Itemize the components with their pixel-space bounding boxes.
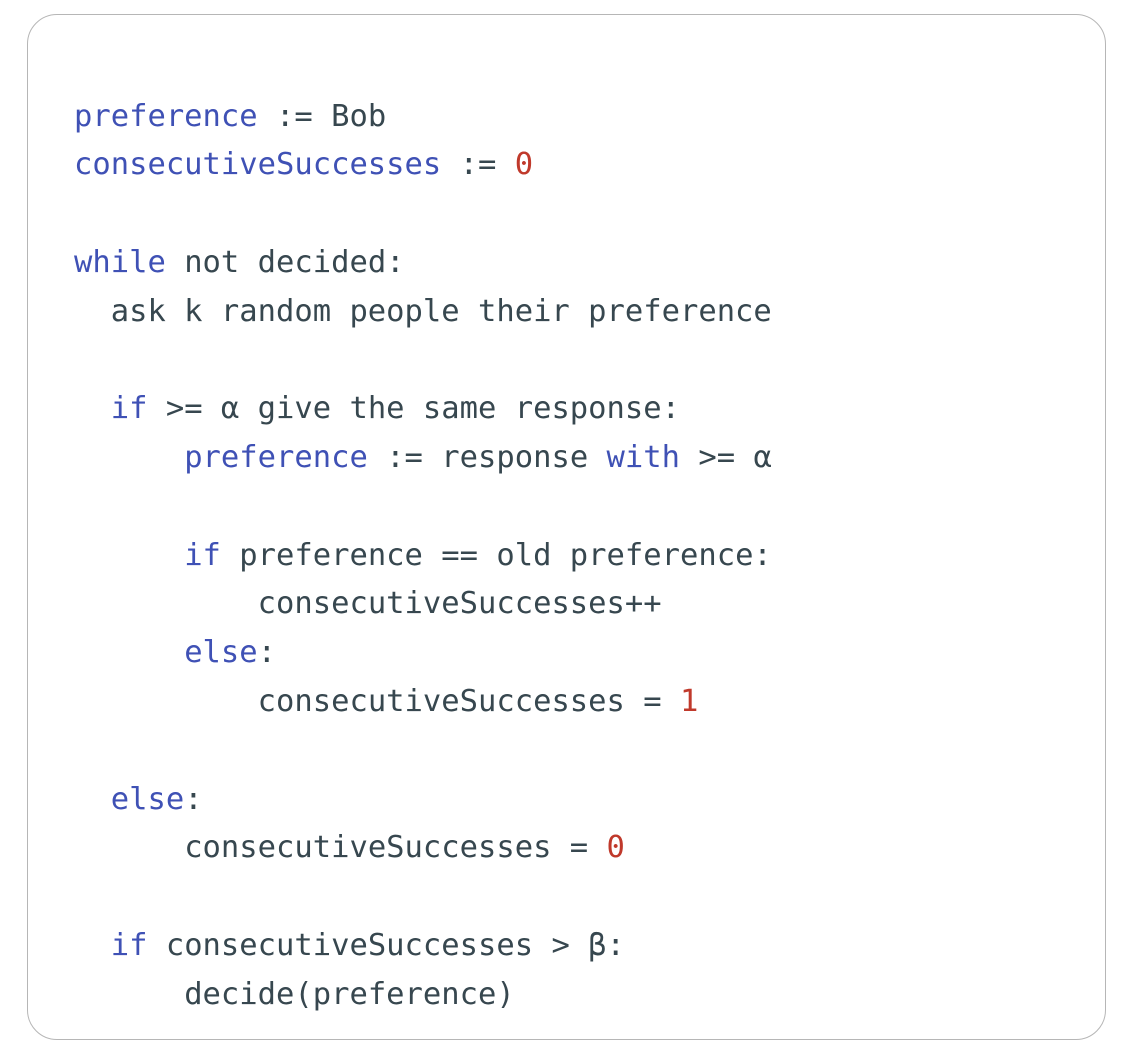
code-line: if consecutiveSuccesses > β:	[74, 922, 772, 971]
code-token-txt: consecutiveSuccesses =	[184, 830, 606, 865]
code-token-txt: >= α	[680, 440, 772, 475]
code-line-blank	[74, 873, 772, 922]
code-line-blank	[74, 190, 772, 239]
code-token-var: consecutiveSuccesses	[74, 147, 441, 182]
code-line: consecutiveSuccesses = 0	[74, 824, 772, 873]
code-token-txt: :=	[441, 147, 514, 182]
code-token-txt: not decided:	[166, 245, 405, 280]
code-indent	[74, 635, 184, 670]
code-indent	[74, 684, 258, 719]
code-line: if >= α give the same response:	[74, 385, 772, 434]
code-line: while not decided:	[74, 239, 772, 288]
code-line: consecutiveSuccesses := 0	[74, 141, 772, 190]
pseudocode-block: preference := BobconsecutiveSuccesses :=…	[74, 93, 772, 1020]
code-indent	[74, 977, 184, 1012]
code-line: preference := Bob	[74, 93, 772, 142]
code-indent	[74, 440, 184, 475]
code-token-txt	[74, 342, 92, 377]
code-token-txt	[74, 196, 92, 231]
code-indent	[74, 586, 258, 621]
code-token-kw: while	[74, 245, 166, 280]
code-token-kw: with	[607, 440, 680, 475]
code-token-txt: consecutiveSuccesses > β:	[147, 928, 624, 963]
code-indent	[74, 928, 111, 963]
code-indent	[74, 391, 111, 426]
code-line-blank	[74, 727, 772, 776]
code-token-kw: else	[184, 635, 257, 670]
code-line: consecutiveSuccesses = 1	[74, 678, 772, 727]
code-line: ask k random people their preference	[74, 288, 772, 337]
code-line-blank	[74, 483, 772, 532]
code-token-num: 0	[607, 830, 625, 865]
code-token-num: 1	[680, 684, 698, 719]
code-token-txt: >= α give the same response:	[147, 391, 680, 426]
code-token-kw: else	[111, 782, 184, 817]
code-line: decide(preference)	[74, 971, 772, 1020]
code-indent	[74, 538, 184, 573]
code-token-txt: :=	[258, 99, 331, 134]
code-token-txt: := response	[368, 440, 607, 475]
code-card: preference := BobconsecutiveSuccesses :=…	[27, 14, 1106, 1040]
code-token-txt	[74, 489, 92, 524]
code-line: if preference == old preference:	[74, 532, 772, 581]
code-indent	[74, 830, 184, 865]
code-token-var: preference	[184, 440, 368, 475]
code-token-kw: if	[111, 391, 148, 426]
code-token-kw: if	[184, 538, 221, 573]
code-line: preference := response with >= α	[74, 434, 772, 483]
code-token-kw: if	[111, 928, 148, 963]
code-token-txt: :	[184, 782, 202, 817]
code-token-txt	[74, 879, 92, 914]
code-token-txt: consecutiveSuccesses++	[258, 586, 662, 621]
code-token-txt: decide(preference)	[184, 977, 515, 1012]
code-token-txt: preference == old preference:	[221, 538, 772, 573]
code-line: else:	[74, 776, 772, 825]
code-indent	[74, 782, 111, 817]
code-token-txt: :	[258, 635, 276, 670]
code-token-txt	[74, 733, 92, 768]
code-line-blank	[74, 336, 772, 385]
code-token-txt: Bob	[331, 99, 386, 134]
code-token-num: 0	[515, 147, 533, 182]
code-line: else:	[74, 629, 772, 678]
code-token-txt: ask k random people their preference	[111, 294, 772, 329]
code-token-var: preference	[74, 99, 258, 134]
code-token-txt: consecutiveSuccesses =	[258, 684, 680, 719]
code-line: consecutiveSuccesses++	[74, 580, 772, 629]
code-indent	[74, 294, 111, 329]
